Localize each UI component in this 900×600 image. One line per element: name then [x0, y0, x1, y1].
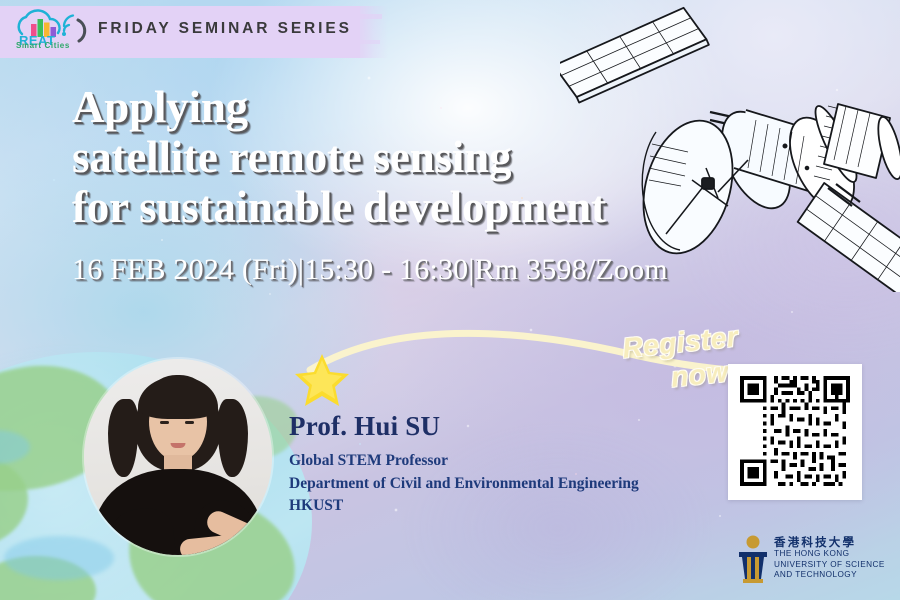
headline-line-2: satellite remote sensing — [72, 132, 762, 182]
logo-tagline: Smart Cities — [16, 41, 70, 50]
hkust-name-en-line-2: UNIVERSITY OF SCIENCE — [774, 560, 885, 571]
seminar-poster: FRIDAY SEMINAR SERIES REAT Smart Cities … — [0, 0, 900, 600]
registration-qr-code[interactable] — [728, 364, 862, 500]
series-banner-brush-edge — [352, 6, 388, 58]
series-label: FRIDAY SEMINAR SERIES — [98, 20, 352, 38]
hkust-crest-icon — [736, 534, 770, 586]
hkust-name-en: THE HONG KONG UNIVERSITY OF SCIENCE AND … — [774, 549, 885, 581]
speaker-affiliation: Global STEM Professor Department of Civi… — [289, 450, 639, 518]
speaker-institution: HKUST — [289, 495, 639, 518]
avatar — [84, 359, 272, 555]
hkust-name-en-line-1: THE HONG KONG — [774, 549, 885, 560]
portrait-hair-left — [108, 399, 138, 477]
hkust-name-cn: 香港科技大學 — [774, 534, 856, 550]
headline-line-1: Applying — [72, 82, 762, 132]
speaker-department: Department of Civil and Environmental En… — [289, 473, 639, 496]
shooting-star-icon — [293, 352, 351, 408]
event-details-line: 16 FEB 2024 (Fri)|15:30 - 16:30|Rm 3598/… — [72, 253, 668, 287]
speaker-name: Prof. Hui SU — [289, 411, 440, 442]
portrait-eye-right — [185, 421, 194, 424]
page-title: Applying satellite remote sensing for su… — [72, 82, 762, 232]
headline-line-3: for sustainable development — [72, 182, 762, 232]
qr-code-icon[interactable] — [740, 376, 850, 486]
speaker-title: Global STEM Professor — [289, 450, 639, 473]
portrait-eye-left — [160, 421, 169, 424]
hkust-logo: 香港科技大學 THE HONG KONG UNIVERSITY OF SCIEN… — [736, 534, 892, 588]
hkust-name-en-line-3: AND TECHNOLOGY — [774, 570, 885, 581]
